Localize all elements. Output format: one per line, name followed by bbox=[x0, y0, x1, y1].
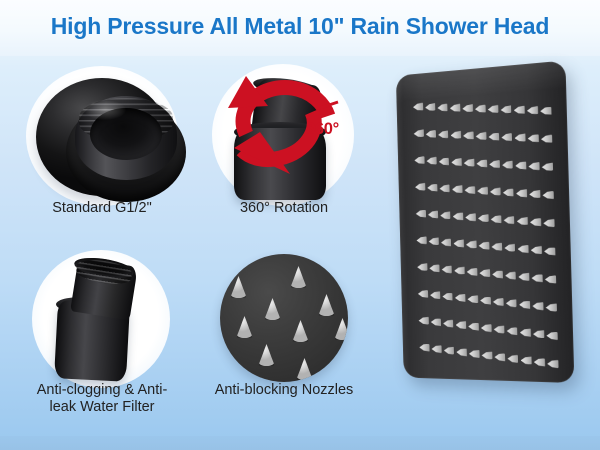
shower-nozzle bbox=[541, 134, 552, 143]
shower-nozzle bbox=[476, 132, 487, 141]
shower-nozzle bbox=[482, 351, 493, 359]
shower-nozzle bbox=[545, 275, 556, 283]
shower-nozzle bbox=[466, 241, 477, 249]
feature-panel-nozzles: Anti-blocking Nozzles bbox=[198, 248, 370, 398]
shower-nozzle bbox=[481, 324, 492, 332]
feature-caption-nozzles: Anti-blocking Nozzles bbox=[198, 382, 370, 399]
shower-nozzle bbox=[477, 187, 488, 195]
shower-nozzle bbox=[502, 161, 513, 170]
shower-nozzle bbox=[520, 356, 531, 364]
shower-nozzle bbox=[533, 330, 544, 338]
nozzle-cone bbox=[332, 364, 348, 382]
shower-nozzle bbox=[428, 210, 438, 218]
shower-nozzle bbox=[465, 213, 476, 221]
shower-nozzle bbox=[479, 269, 490, 277]
feature-panel-rotation: 360° 360° Rotation bbox=[198, 62, 370, 212]
shower-nozzle bbox=[415, 183, 425, 191]
shower-nozzle bbox=[468, 322, 479, 330]
shower-nozzle bbox=[514, 106, 525, 115]
shower-nozzle bbox=[463, 131, 474, 140]
shower-nozzle bbox=[414, 129, 424, 137]
shower-nozzle bbox=[528, 162, 539, 171]
shower-nozzle bbox=[493, 298, 504, 306]
connector-highlight bbox=[84, 100, 126, 120]
shower-nozzle bbox=[540, 106, 551, 115]
header-band: High Pressure All Metal 10" Rain Shower … bbox=[0, 0, 600, 56]
shower-nozzle bbox=[504, 216, 515, 224]
nozzle-cone bbox=[292, 320, 309, 342]
feature-caption-standard-g12: Standard G1/2" bbox=[12, 200, 192, 217]
shower-nozzle bbox=[467, 268, 478, 276]
shower-nozzle bbox=[520, 328, 531, 336]
shower-nozzle bbox=[443, 320, 454, 328]
nozzle-cone bbox=[290, 266, 307, 288]
nozzle-cone bbox=[236, 316, 253, 338]
product-infographic: High Pressure All Metal 10" Rain Shower … bbox=[0, 0, 600, 450]
shower-nozzle bbox=[494, 325, 505, 333]
shower-nozzle bbox=[501, 105, 512, 114]
nozzle-cone bbox=[258, 344, 275, 366]
shower-nozzle bbox=[480, 297, 491, 305]
feature-panel-standard-g12: Standard G1/2" bbox=[12, 62, 192, 212]
shower-nozzle bbox=[507, 327, 518, 335]
shower-nozzle bbox=[530, 218, 541, 226]
shower-nozzle bbox=[427, 184, 437, 192]
shower-nozzle bbox=[431, 318, 441, 326]
shower-nozzle bbox=[417, 263, 427, 271]
shower-nozzle bbox=[464, 186, 475, 194]
shower-nozzle bbox=[517, 217, 528, 225]
threaded-connector-icon bbox=[36, 78, 168, 196]
shower-nozzle bbox=[503, 188, 514, 197]
shower-nozzle bbox=[419, 317, 429, 325]
shower-nozzle bbox=[544, 247, 555, 255]
shower-nozzle bbox=[413, 103, 423, 112]
shower-nozzle bbox=[501, 133, 512, 142]
shower-nozzle bbox=[444, 347, 455, 355]
shower-nozzle bbox=[506, 299, 517, 307]
shower-nozzle bbox=[442, 265, 453, 273]
shower-nozzle bbox=[532, 302, 543, 310]
shower-nozzle bbox=[529, 190, 540, 199]
shower-nozzle bbox=[491, 215, 502, 223]
shower-nozzle bbox=[456, 321, 467, 329]
shower-nozzle bbox=[416, 210, 426, 218]
nozzle-cone bbox=[296, 358, 313, 380]
shower-nozzle bbox=[429, 237, 439, 245]
shower-nozzle bbox=[439, 157, 450, 165]
shower-nozzle bbox=[438, 130, 449, 139]
shower-nozzle bbox=[431, 345, 441, 353]
bottom-band bbox=[0, 436, 600, 450]
shower-nozzle bbox=[519, 301, 530, 309]
shower-nozzle bbox=[453, 239, 464, 247]
shower-nozzle bbox=[527, 106, 538, 115]
shower-face-plate bbox=[396, 60, 575, 383]
shower-nozzle bbox=[534, 358, 545, 366]
silicone-nozzle-icon bbox=[220, 254, 348, 382]
shower-nozzle bbox=[492, 270, 503, 278]
shower-nozzle bbox=[518, 273, 529, 281]
shower-nozzle bbox=[514, 133, 525, 142]
shower-nozzle bbox=[451, 158, 462, 166]
feature-caption-water-filter: Anti-clogging & Anti- leak Water Filter bbox=[12, 382, 192, 416]
shower-nozzle bbox=[467, 295, 478, 303]
shower-nozzle bbox=[450, 131, 461, 140]
shower-nozzle bbox=[515, 161, 526, 170]
shower-nozzle bbox=[440, 211, 451, 219]
nozzle-cone bbox=[264, 298, 281, 320]
shower-nozzle bbox=[437, 103, 448, 112]
shower-nozzle bbox=[456, 348, 467, 356]
shower-nozzle bbox=[505, 272, 516, 280]
rotation-degree-badge: 360° bbox=[306, 120, 339, 139]
rain-shower-head-panel bbox=[372, 52, 600, 402]
feature-caption-rotation: 360° Rotation bbox=[198, 200, 370, 217]
shower-nozzle bbox=[464, 159, 475, 168]
shower-nozzle bbox=[453, 212, 464, 220]
shower-nozzle bbox=[462, 104, 473, 113]
shower-nozzle bbox=[542, 163, 553, 172]
shower-nozzle bbox=[547, 360, 558, 369]
shower-nozzle bbox=[454, 267, 465, 275]
shower-nozzle bbox=[491, 243, 502, 251]
shower-nozzle bbox=[478, 214, 489, 222]
shower-nozzle bbox=[507, 355, 518, 363]
shower-nozzle bbox=[543, 219, 554, 228]
feature-panel-water-filter: Anti-clogging & Anti- leak Water Filter bbox=[12, 248, 192, 398]
shower-nozzle bbox=[430, 291, 440, 299]
shower-nozzle bbox=[442, 293, 453, 301]
shower-nozzle bbox=[414, 156, 424, 164]
shower-nozzle bbox=[531, 274, 542, 282]
nozzle-cone bbox=[334, 318, 348, 340]
page-title: High Pressure All Metal 10" Rain Shower … bbox=[0, 13, 600, 40]
shower-nozzle bbox=[489, 160, 500, 169]
shower-nozzle bbox=[528, 134, 539, 143]
shower-nozzle bbox=[419, 343, 429, 351]
shower-nozzle bbox=[479, 242, 490, 250]
shower-nozzle bbox=[427, 157, 437, 165]
shower-nozzle bbox=[469, 350, 480, 358]
shower-nozzle bbox=[426, 130, 436, 138]
shower-nozzle bbox=[418, 290, 428, 298]
shower-nozzle bbox=[517, 245, 528, 253]
shower-nozzle bbox=[452, 185, 463, 193]
shower-nozzle bbox=[516, 189, 527, 198]
nozzle-cone bbox=[318, 294, 335, 316]
shower-nozzle bbox=[494, 353, 505, 361]
shower-nozzle bbox=[429, 264, 439, 272]
shower-nozzle bbox=[546, 332, 557, 340]
shower-nozzle bbox=[488, 105, 499, 114]
shower-nozzle bbox=[542, 191, 553, 200]
nozzle-cone bbox=[230, 276, 247, 298]
shower-nozzle bbox=[450, 104, 461, 113]
shower-nozzle bbox=[488, 132, 499, 141]
shower-nozzle bbox=[490, 187, 501, 195]
shower-nozzle bbox=[416, 236, 426, 244]
shower-nozzle bbox=[441, 238, 452, 246]
shower-nozzle bbox=[440, 184, 451, 192]
shower-nozzle bbox=[455, 294, 466, 302]
shower-nozzle bbox=[476, 159, 487, 168]
shower-nozzle bbox=[531, 246, 542, 254]
shower-nozzle bbox=[475, 104, 486, 113]
shower-nozzle bbox=[425, 103, 435, 112]
shower-nozzle bbox=[504, 244, 515, 252]
shower-nozzle bbox=[546, 303, 557, 311]
